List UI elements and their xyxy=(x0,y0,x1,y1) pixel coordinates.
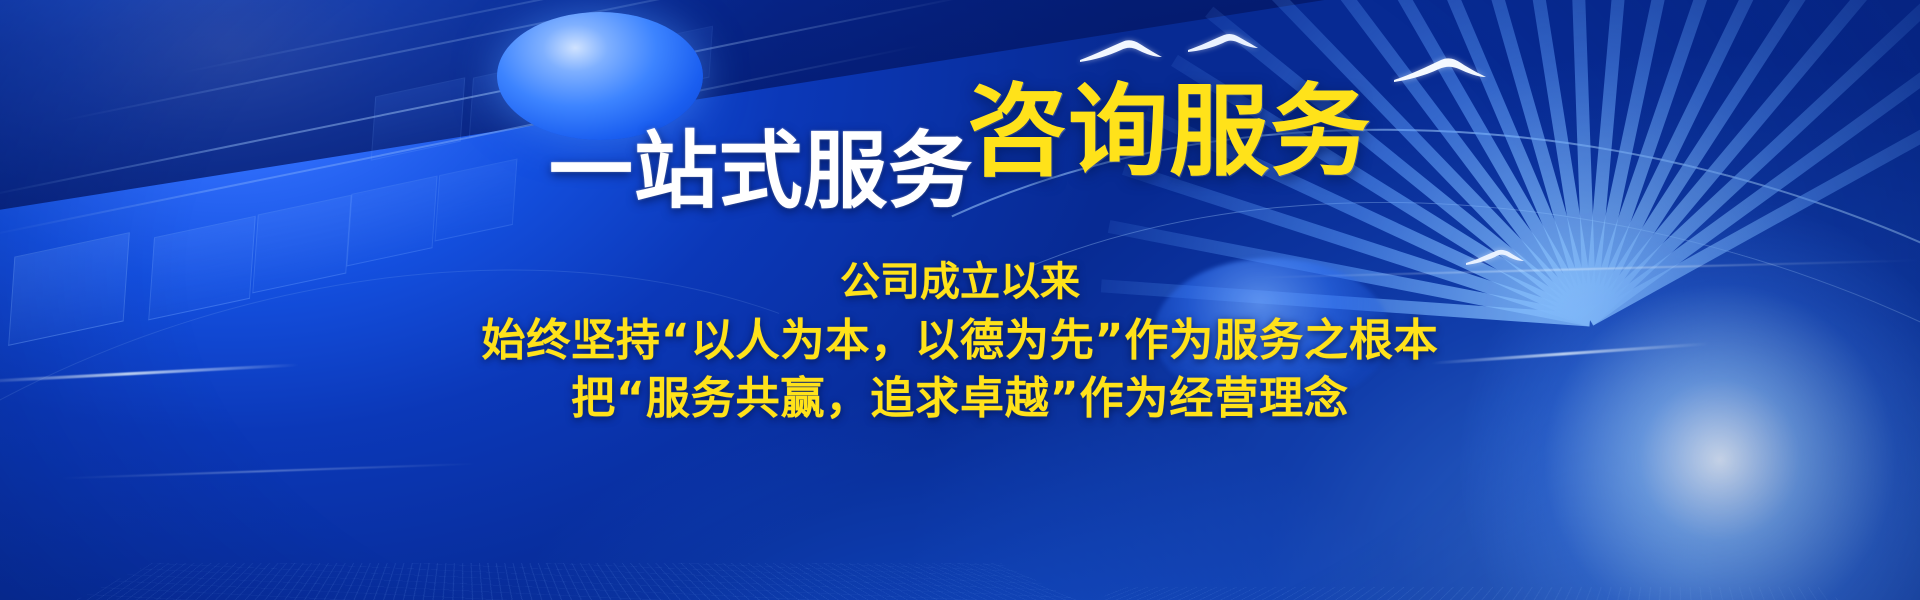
promo-banner: 一站式服务咨询服务 公司成立以来 始终坚持“以人为本，以德为先”作为服务之根本 … xyxy=(0,0,1920,600)
background-vignette xyxy=(0,0,1920,600)
